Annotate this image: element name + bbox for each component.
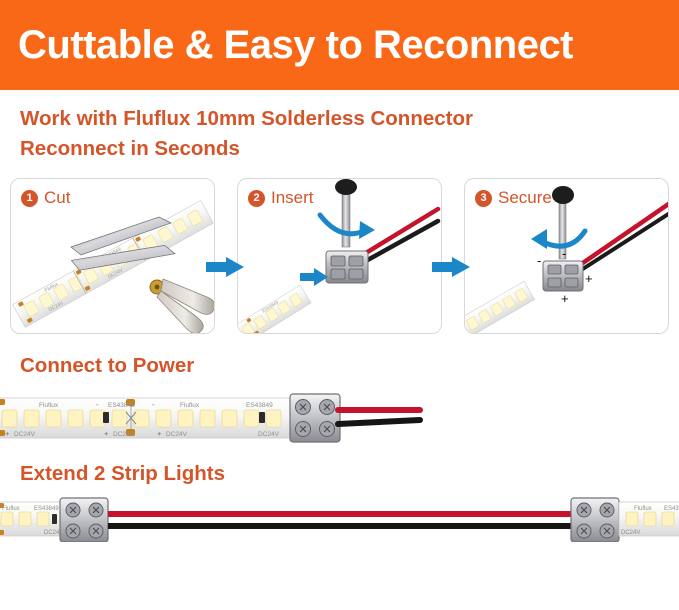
svg-text:ES43849: ES43849 — [34, 506, 59, 512]
step-label-cut: 1 Cut — [21, 188, 70, 208]
subheading-line-1: Work with Fluflux 10mm Solderless Connec… — [20, 104, 679, 134]
svg-text:DC24V: DC24V — [621, 530, 640, 536]
step-label-insert: 2 Insert — [248, 188, 314, 208]
photo-extend-two-strips: Fluflux ES43849 DC24V — [0, 486, 679, 542]
step-card-secure: 3 Secure — [464, 178, 669, 334]
insert-arrow-icon — [300, 268, 328, 286]
svg-text:ES43849: ES43849 — [246, 402, 273, 409]
header-banner: Cuttable & Easy to Reconnect — [0, 0, 679, 90]
svg-text:Fluflux: Fluflux — [180, 402, 200, 409]
step-title: Secure — [498, 188, 552, 208]
steps-row: 1 Cut — [0, 178, 679, 336]
polarity-plus-bottom: + — [561, 291, 569, 306]
photo-connect-to-power: Fluflux ES43849 Fluflux ES43849 DC24V DC… — [0, 382, 679, 454]
svg-text:Fluflux: Fluflux — [39, 402, 59, 409]
section-heading-extend-strips: Extend 2 Strip Lights — [0, 462, 679, 486]
page-title: Cuttable & Easy to Reconnect — [18, 23, 573, 68]
polarity-minus-left: - — [537, 253, 541, 268]
svg-text:+: + — [104, 429, 109, 438]
strip-with-power-wire-illustration: Fluflux ES43849 Fluflux ES43849 DC24V DC… — [0, 382, 679, 454]
svg-text:+: + — [157, 429, 162, 438]
arrow-step1-to-step2-icon — [206, 256, 244, 278]
subheading-line-2: Reconnect in Seconds — [20, 134, 679, 164]
svg-text:Fluflux: Fluflux — [634, 506, 652, 512]
polarity-minus-top: - — [562, 246, 566, 261]
section-heading-connect-to-power: Connect to Power — [0, 354, 679, 378]
svg-text:ES43: ES43 — [664, 506, 679, 512]
step-card-cut: 1 Cut — [10, 178, 215, 334]
step-number-badge: 3 — [475, 190, 492, 207]
step-card-insert: 2 Insert — [237, 178, 442, 334]
svg-text:ES43849: ES43849 — [108, 402, 135, 409]
step-title: Cut — [44, 188, 70, 208]
step-label-secure: 3 Secure — [475, 188, 552, 208]
step-title: Insert — [271, 188, 314, 208]
subheading-block: Work with Fluflux 10mm Solderless Connec… — [0, 90, 679, 164]
svg-text:DC24V: DC24V — [113, 431, 135, 438]
rotate-arrow-icon — [531, 229, 585, 249]
arrow-step2-to-step3-icon — [432, 256, 470, 278]
svg-text:Fluflux: Fluflux — [2, 506, 20, 512]
step-number-badge: 2 — [248, 190, 265, 207]
svg-text:DC24V: DC24V — [166, 431, 188, 438]
step-number-badge: 1 — [21, 190, 38, 207]
svg-text:DC24V: DC24V — [258, 431, 280, 438]
two-strips-joined-illustration: Fluflux ES43849 DC24V — [0, 486, 679, 542]
svg-text:DC24V: DC24V — [14, 431, 36, 438]
svg-text:+: + — [5, 429, 10, 438]
polarity-plus-right: + — [585, 271, 593, 286]
